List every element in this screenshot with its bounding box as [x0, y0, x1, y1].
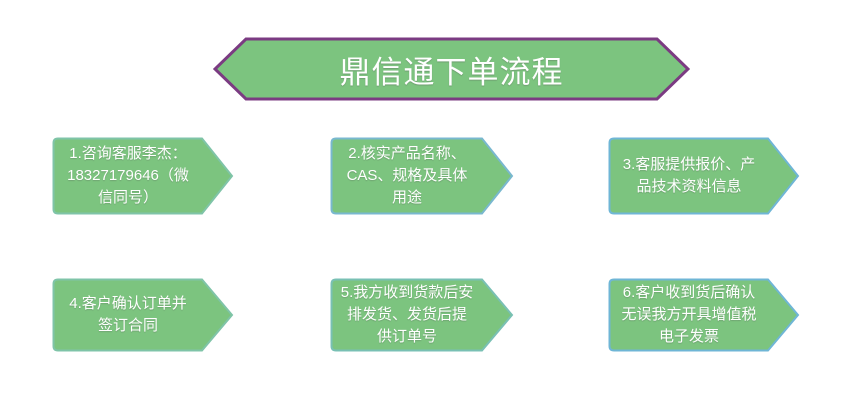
flow-step-5-label: 5.我方收到货款后安排发货、发货后提供订单号 — [330, 278, 484, 352]
flow-step-2[interactable]: 2.核实产品名称、CAS、规格及具体用途 — [330, 137, 514, 215]
diagram-title-banner: 鼎信通下单流程 — [213, 37, 690, 101]
page-title: 鼎信通下单流程 — [213, 37, 690, 101]
flow-step-2-label: 2.核实产品名称、CAS、规格及具体用途 — [330, 137, 484, 215]
flow-step-6-label: 6.客户收到货后确认无误我方开具增值税电子发票 — [608, 278, 770, 352]
flow-step-1-label: 1.咨询客服李杰：18327179646（微信同号） — [52, 137, 204, 215]
flow-step-4[interactable]: 4.客户确认订单并签订合同 — [52, 278, 234, 352]
flow-step-5[interactable]: 5.我方收到货款后安排发货、发货后提供订单号 — [330, 278, 514, 352]
flow-step-4-label: 4.客户确认订单并签订合同 — [52, 278, 204, 352]
flow-step-1[interactable]: 1.咨询客服李杰：18327179646（微信同号） — [52, 137, 234, 215]
flow-step-3[interactable]: 3.客服提供报价、产品技术资料信息 — [608, 137, 800, 215]
flowchart-canvas: 鼎信通下单流程 1.咨询客服李杰：18327179646（微信同号） 2.核实产… — [0, 0, 865, 417]
flow-step-3-label: 3.客服提供报价、产品技术资料信息 — [608, 137, 770, 215]
flow-step-6[interactable]: 6.客户收到货后确认无误我方开具增值税电子发票 — [608, 278, 800, 352]
